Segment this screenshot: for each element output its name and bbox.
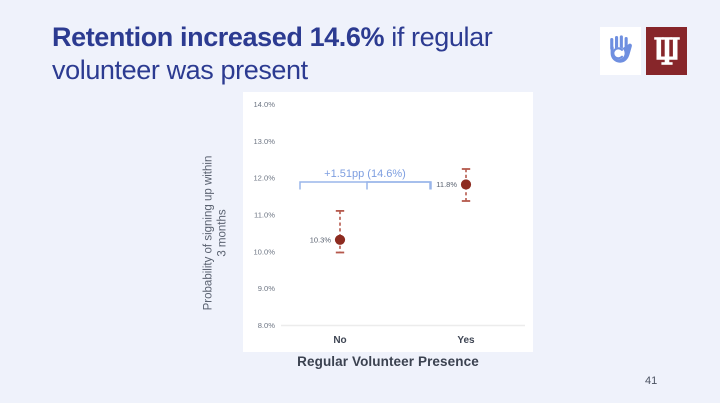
y-tick-label: 8.0% bbox=[258, 321, 276, 330]
indiana-university-logo bbox=[646, 27, 687, 75]
x-tick-label-no: No bbox=[333, 335, 346, 346]
y-axis-title: Probability of signing up within 3 month… bbox=[196, 118, 236, 348]
title-bold: Retention increased 14.6% bbox=[52, 22, 384, 52]
page-number: 41 bbox=[645, 375, 657, 387]
y-axis-ticks: 14.0% 13.0% 12.0% 11.0% 10.0% 9.0% 8.0% bbox=[253, 100, 275, 330]
point-marker-no bbox=[335, 235, 345, 245]
slide: Retention increased 14.6% if regular vol… bbox=[0, 0, 720, 403]
annotation-label: +1.51pp (14.6%) bbox=[324, 168, 406, 180]
data-point-no: 10.3% bbox=[310, 211, 345, 253]
x-axis-title: Regular Volunteer Presence bbox=[243, 354, 533, 369]
point-marker-yes bbox=[461, 179, 471, 189]
y-tick-label: 10.0% bbox=[253, 247, 275, 256]
y-tick-label: 14.0% bbox=[253, 100, 275, 109]
page-title: Retention increased 14.6% if regular vol… bbox=[52, 21, 582, 87]
annotation-bracket-left bbox=[300, 182, 430, 190]
difference-annotation: +1.51pp (14.6%) bbox=[300, 168, 431, 190]
y-axis-title-line2: 3 months bbox=[217, 209, 229, 256]
y-axis-title-text: Probability of signing up within 3 month… bbox=[202, 119, 231, 347]
x-axis-ticks: No Yes bbox=[333, 335, 475, 346]
annotation-bracket-right bbox=[367, 182, 431, 190]
y-tick-label: 9.0% bbox=[258, 284, 276, 293]
crisis-text-line-hand-logo bbox=[600, 27, 641, 75]
point-value-label-no: 10.3% bbox=[310, 236, 332, 245]
y-tick-label: 12.0% bbox=[253, 174, 275, 183]
y-axis-title-line1: Probability of signing up within bbox=[203, 156, 215, 311]
point-value-label-yes: 11.8% bbox=[436, 180, 457, 189]
y-tick-label: 13.0% bbox=[253, 137, 275, 146]
logo-group bbox=[600, 27, 687, 75]
chart-plot: 14.0% 13.0% 12.0% 11.0% 10.0% 9.0% 8.0% … bbox=[243, 92, 533, 352]
x-tick-label-yes: Yes bbox=[457, 335, 475, 346]
chart-card: 14.0% 13.0% 12.0% 11.0% 10.0% 9.0% 8.0% … bbox=[243, 92, 533, 352]
data-point-yes: 11.8% bbox=[436, 169, 471, 201]
y-tick-label: 11.0% bbox=[254, 211, 275, 220]
